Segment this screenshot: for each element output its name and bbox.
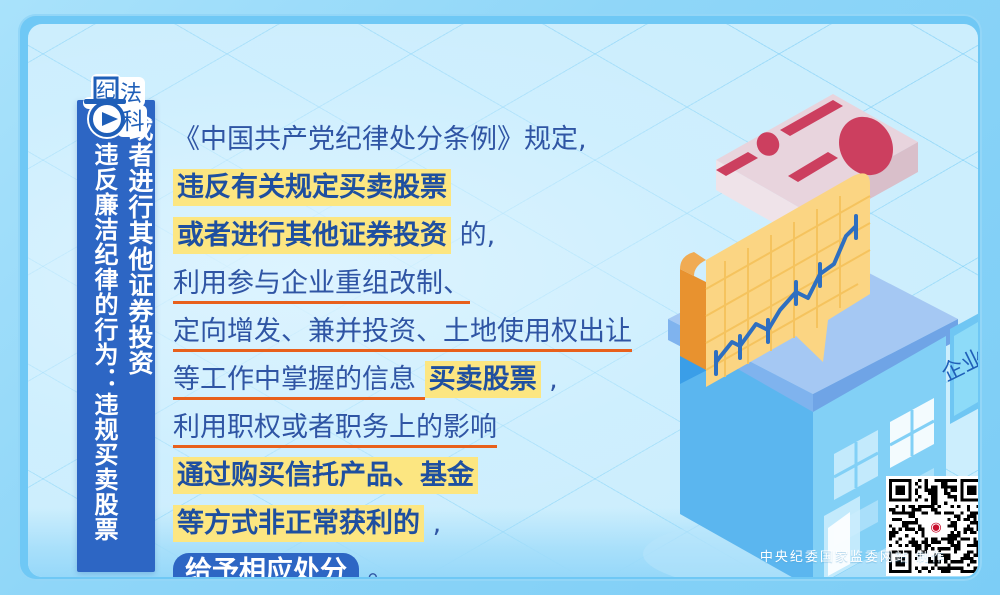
text-segment-hl: 买卖股票: [425, 361, 541, 398]
banner-column-left: 违反廉洁纪律的行为：违规买卖股票: [80, 100, 116, 572]
text-segment-ul: 等工作中掌握的信息: [173, 364, 425, 400]
text-segment-plain: 的,: [451, 220, 495, 251]
regulation-line: 《中国共产党纪律处分条例》规定,: [173, 116, 643, 164]
logo-char-1: 纪: [96, 80, 115, 102]
regulation-line: 通过购买信托产品、基金: [173, 452, 643, 500]
text-segment-ul: 利用参与企业重组改制、: [173, 268, 470, 304]
poster-root: 企业: [0, 0, 1000, 595]
regulation-line: 等方式非正常获利的 ,: [173, 500, 643, 548]
poster-canvas: 企业: [28, 24, 978, 577]
regulation-line: 或者进行其他证券投资 的,: [173, 212, 643, 260]
text-segment-plain: ,: [541, 364, 558, 395]
regulation-line: 定向增发、兼并投资、土地使用权出让: [173, 308, 643, 356]
text-segment-hl: 或者进行其他证券投资: [173, 217, 451, 254]
text-segment-hl: 违反有关规定买卖股票: [173, 169, 451, 206]
banner-column-right: 或者进行其他证券投资: [116, 100, 152, 572]
program-logo: 纪 法 科: [77, 71, 165, 147]
text-segment-ul: 利用职权或者职务上的影响: [173, 412, 497, 448]
regulation-line: 利用职权或者职务上的影响: [173, 404, 643, 452]
text-segment-hl: 通过购买信托产品、基金: [173, 457, 478, 494]
text-segment-hl: 等方式非正常获利的: [173, 505, 424, 542]
vertical-title-banner: 或者进行其他证券投资 违反廉洁纪律的行为：违规买卖股票: [77, 100, 155, 572]
regulation-text-block: 《中国共产党纪律处分条例》规定,违反有关规定买卖股票或者进行其他证券投资 的,利…: [173, 116, 643, 577]
regulation-line: 等工作中掌握的信息 买卖股票 ,: [173, 356, 643, 404]
footer-credit: 中央纪委国家监委网站 制作: [28, 546, 946, 565]
text-segment-plain: ,: [424, 508, 441, 539]
logo-char-4: 科: [122, 109, 145, 135]
text-segment-ul: 定向增发、兼并投资、土地使用权出让: [173, 316, 632, 352]
text-segment-plain: 《中国共产党纪律处分条例》规定,: [173, 124, 587, 155]
qr-center-mark: ◉: [930, 520, 941, 535]
regulation-line: 违反有关规定买卖股票: [173, 164, 643, 212]
regulation-line: 利用参与企业重组改制、: [173, 260, 643, 308]
